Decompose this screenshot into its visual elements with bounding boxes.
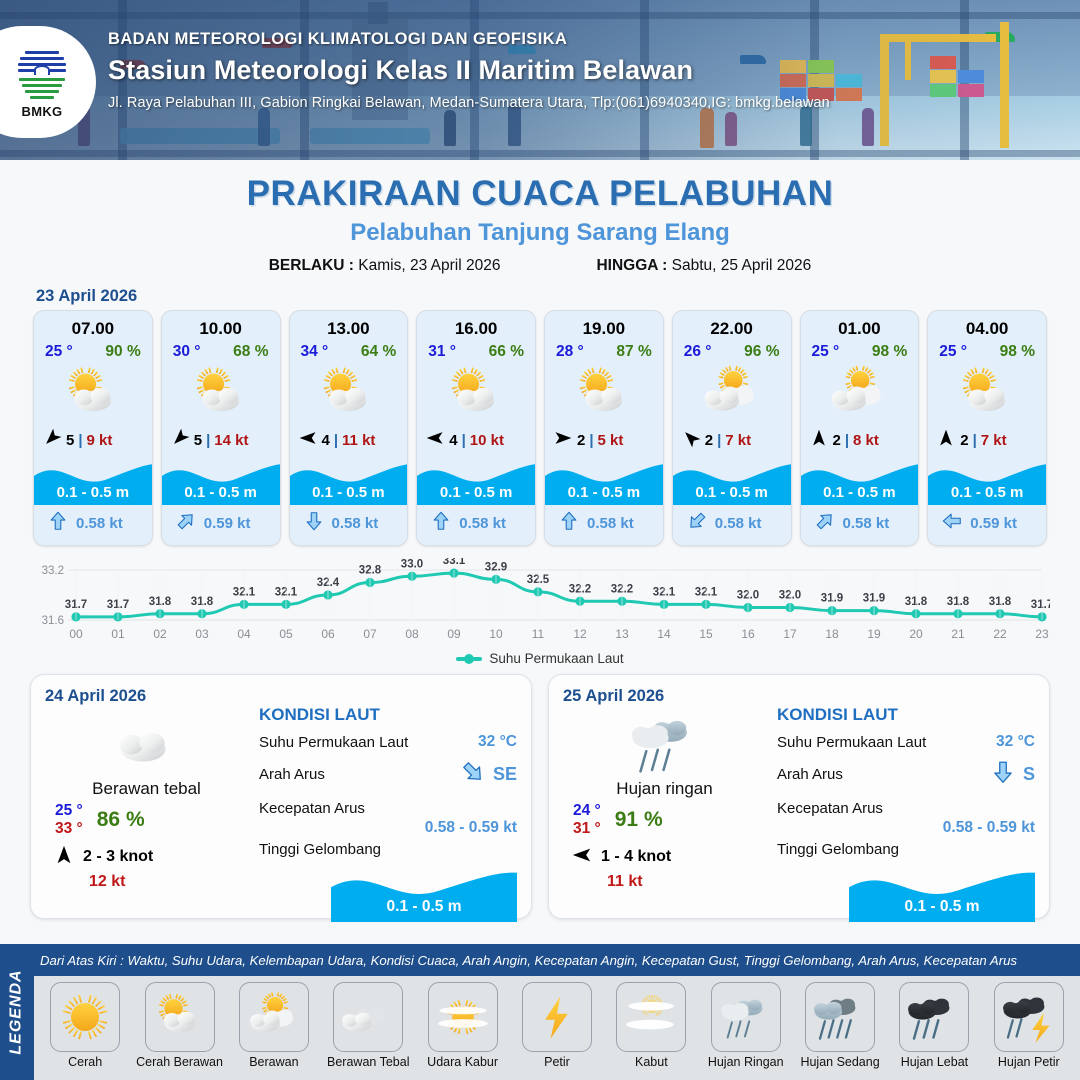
hourly-card: 13.00 34 ° 64 % 4 | 11 kt 0.1 - 0.5 m: [289, 310, 409, 546]
validity-row: BERLAKU : Kamis, 23 April 2026 HINGGA : …: [0, 257, 1080, 275]
agency-name: BADAN METEOROLOGI KLIMATOLOGI DAN GEOFIS…: [108, 30, 830, 49]
legend-item-label: Hujan Lebat: [901, 1055, 968, 1069]
current-speed-label: Kecepatan Arus: [777, 800, 883, 817]
svg-text:13: 13: [615, 627, 629, 641]
current-speed-value: 0.58 - 0.59 kt: [259, 819, 517, 837]
svg-text:22: 22: [993, 627, 1007, 641]
legend-item: Hujan Sedang: [793, 982, 887, 1078]
rain-light-icon: [567, 713, 762, 775]
wind-separator: |: [462, 432, 466, 449]
svg-text:01: 01: [111, 627, 125, 641]
rain-heavy-icon: [899, 982, 969, 1052]
current-direction-value: SE: [493, 764, 517, 785]
current-speed: 0.59 kt: [970, 515, 1017, 532]
current-speed-label: Kecepatan Arus: [259, 800, 365, 817]
current-direction-value: S: [1023, 764, 1035, 785]
hourly-card: 10.00 30 ° 68 % 5 | 14 kt 0.1 - 0.5 m: [161, 310, 281, 546]
current-speed: 0.58 kt: [587, 515, 634, 532]
card-time: 19.00: [545, 311, 663, 339]
card-temperature: 25 °: [939, 343, 967, 361]
wind-separator: |: [717, 432, 721, 449]
panel-wind-speed: 2 - 3 knot: [83, 848, 153, 866]
wind-separator: |: [334, 432, 338, 449]
wind-speed: 5: [194, 432, 202, 449]
panel-wave-graphic: 0.1 - 0.5 m: [849, 862, 1035, 922]
legend-label: Suhu Permukaan Laut: [489, 651, 623, 666]
legend-item-label: Berawan: [249, 1055, 298, 1069]
panel-wave-value: 0.1 - 0.5 m: [849, 898, 1035, 916]
svg-text:15: 15: [699, 627, 713, 641]
current-speed: 0.58 kt: [715, 515, 762, 532]
wind-speed: 2: [833, 432, 841, 449]
sun-clouds-icon: [801, 363, 919, 425]
sst-value: 32 °C: [478, 733, 517, 751]
card-humidity: 96 %: [744, 343, 779, 361]
panel-wave-graphic: 0.1 - 0.5 m: [331, 862, 517, 922]
card-temperature: 28 °: [556, 343, 584, 361]
card-time: 22.00: [673, 311, 791, 339]
svg-text:20: 20: [909, 627, 923, 641]
svg-text:31.7: 31.7: [1031, 599, 1050, 611]
hourly-card: 04.00 25 ° 98 % 2 | 7 kt 0.1 - 0.5 m: [927, 310, 1047, 546]
wave-height: 0.1 - 0.5 m: [545, 484, 663, 501]
wind-separator: |: [206, 432, 210, 449]
card-humidity: 64 %: [361, 343, 396, 361]
svg-text:19: 19: [867, 627, 881, 641]
current-direction-label: Arah Arus: [259, 766, 325, 783]
svg-text:33.2: 33.2: [42, 565, 64, 577]
card-temperature: 30 °: [173, 343, 201, 361]
card-time: 16.00: [417, 311, 535, 339]
legend-item: Berawan: [227, 982, 321, 1078]
current-direction-icon: [430, 510, 452, 537]
current-speed: 0.58 kt: [332, 515, 379, 532]
card-time: 04.00: [928, 311, 1046, 339]
svg-text:33.1: 33.1: [443, 558, 466, 567]
sun-cloud-icon: [417, 363, 535, 425]
sun-icon: [50, 982, 120, 1052]
sun-cloud-icon: [162, 363, 280, 425]
thunderstorm-icon: [994, 982, 1064, 1052]
panel-humidity: 86 %: [97, 808, 145, 832]
legend-item: Udara Kabur: [415, 982, 509, 1078]
current-speed: 0.59 kt: [204, 515, 251, 532]
sun-cloud-icon: [928, 363, 1046, 425]
fog-icon: [616, 982, 686, 1052]
card-humidity: 87 %: [616, 343, 651, 361]
wave-graphic: 0.1 - 0.5 m: [417, 455, 535, 505]
card-humidity: 98 %: [872, 343, 907, 361]
gust-speed: 7 kt: [725, 432, 751, 449]
current-direction-icon: [303, 510, 325, 537]
sun-clouds-icon: [239, 982, 309, 1052]
svg-text:17: 17: [783, 627, 797, 641]
current-direction-icon: [47, 510, 69, 537]
lightning-icon: [522, 982, 592, 1052]
svg-text:08: 08: [405, 627, 419, 641]
legend-marker-icon: [456, 657, 482, 661]
card-temperature: 25 °: [45, 343, 73, 361]
wind-direction-icon: [298, 428, 318, 453]
valid-until-value: Sabtu, 25 April 2026: [672, 257, 812, 274]
wind-separator: |: [845, 432, 849, 449]
current-direction-label: Arah Arus: [777, 766, 843, 783]
bmkg-logo-text: BMKG: [22, 104, 63, 119]
gust-speed: 5 kt: [598, 432, 624, 449]
legend-note: Dari Atas Kiri : Waktu, Suhu Udara, Kele…: [40, 953, 1074, 968]
card-temperature: 34 °: [301, 343, 329, 361]
wave-graphic: 0.1 - 0.5 m: [545, 455, 663, 505]
svg-text:31.6: 31.6: [42, 615, 64, 627]
legend-tab-label: LEGENDA: [8, 969, 26, 1054]
valid-until: HINGGA : Sabtu, 25 April 2026: [596, 257, 811, 275]
card-time: 07.00: [34, 311, 152, 339]
wind-separator: |: [589, 432, 593, 449]
legend-item: Hujan Ringan: [699, 982, 793, 1078]
page-subtitle: Pelabuhan Tanjung Sarang Elang: [0, 219, 1080, 247]
card-temperature: 26 °: [684, 343, 712, 361]
gust-speed: 8 kt: [853, 432, 879, 449]
legend-item: Hujan Lebat: [887, 982, 981, 1078]
wave-height: 0.1 - 0.5 m: [673, 484, 791, 501]
daily-forecast-row: 24 April 2026 Berawan tebal 25 ° 33 ° 86…: [0, 666, 1080, 919]
arrow-s-icon: [990, 759, 1016, 790]
sun-cloud-icon: [290, 363, 408, 425]
wind-direction-icon: [936, 428, 956, 453]
svg-text:33.0: 33.0: [401, 558, 423, 570]
legend-tab: LEGENDA: [0, 944, 34, 1080]
svg-text:12: 12: [573, 627, 587, 641]
wind-direction-icon: [681, 428, 701, 453]
card-humidity: 98 %: [1000, 343, 1035, 361]
panel-temp-min: 25 °: [55, 802, 83, 820]
legend-item: Kabut: [604, 982, 698, 1078]
svg-text:05: 05: [279, 627, 293, 641]
card-temperature: 25 °: [812, 343, 840, 361]
cloud-icon: [49, 713, 244, 775]
station-address: Jl. Raya Pelabuhan III, Gabion Ringkai B…: [108, 95, 830, 111]
sun-cloud-icon: [545, 363, 663, 425]
wind-direction-icon: [425, 428, 445, 453]
svg-text:18: 18: [825, 627, 839, 641]
wind-separator: |: [973, 432, 977, 449]
svg-text:06: 06: [321, 627, 335, 641]
wind-direction-icon: [553, 428, 573, 453]
panel-wind-speed: 1 - 4 knot: [601, 848, 671, 866]
card-humidity: 90 %: [105, 343, 140, 361]
sun-cloud-icon: [145, 982, 215, 1052]
panel-humidity: 91 %: [615, 808, 663, 832]
wind-speed: 4: [449, 432, 457, 449]
panel-temp-min: 24 °: [573, 802, 601, 820]
rain-light-icon: [711, 982, 781, 1052]
panel-gust: 12 kt: [49, 873, 244, 891]
hourly-card: 07.00 25 ° 90 % 5 | 9 kt 0.1 - 0.5 m: [33, 310, 153, 546]
rain-moderate-icon: [805, 982, 875, 1052]
wind-separator: |: [78, 432, 82, 449]
legend-item-label: Hujan Ringan: [708, 1055, 784, 1069]
valid-from-label: BERLAKU :: [269, 257, 354, 274]
legend-item-label: Hujan Petir: [998, 1055, 1060, 1069]
hourly-card: 01.00 25 ° 98 % 2 | 8 kt 0.1 - 0.5 m: [800, 310, 920, 546]
page-header: BMKG BADAN METEOROLOGI KLIMATOLOGI DAN G…: [0, 0, 1080, 160]
gust-speed: 10 kt: [470, 432, 504, 449]
panel-condition: Berawan tebal: [49, 779, 244, 799]
panel-wind-direction-icon: [53, 844, 75, 871]
current-direction-icon: [814, 510, 836, 537]
daily-forecast-panel: 25 April 2026 Hujan ringan 24 ° 31 °: [548, 674, 1050, 919]
wave-graphic: 0.1 - 0.5 m: [801, 455, 919, 505]
current-speed: 0.58 kt: [76, 515, 123, 532]
sea-condition-title: KONDISI LAUT: [777, 705, 1035, 725]
wave-graphic: 0.1 - 0.5 m: [162, 455, 280, 505]
wind-direction-icon: [42, 428, 62, 453]
wave-graphic: 0.1 - 0.5 m: [290, 455, 408, 505]
svg-text:00: 00: [69, 627, 83, 641]
card-time: 13.00: [290, 311, 408, 339]
hourly-forecast-row: 07.00 25 ° 90 % 5 | 9 kt 0.1 - 0.5 m: [0, 310, 1080, 546]
panel-wave-value: 0.1 - 0.5 m: [331, 898, 517, 916]
clouds-icon: [333, 982, 403, 1052]
wind-direction-icon: [809, 428, 829, 453]
card-time: 01.00: [801, 311, 919, 339]
page-title: PRAKIRAAN CUACA PELABUHAN: [0, 174, 1080, 214]
sea-condition-title: KONDISI LAUT: [259, 705, 517, 725]
svg-text:03: 03: [195, 627, 209, 641]
card-temperature: 31 °: [428, 343, 456, 361]
gust-speed: 7 kt: [981, 432, 1007, 449]
current-speed-value: 0.58 - 0.59 kt: [777, 819, 1035, 837]
bmkg-logo-mark: [13, 45, 71, 103]
gust-speed: 14 kt: [214, 432, 248, 449]
wave-height: 0.1 - 0.5 m: [290, 484, 408, 501]
legend-item: Cerah Berawan: [132, 982, 226, 1078]
current-direction-icon: [941, 510, 963, 537]
wave-graphic: 0.1 - 0.5 m: [673, 455, 791, 505]
panel-temp-max: 31 °: [573, 820, 601, 838]
svg-text:11: 11: [532, 627, 545, 641]
valid-until-label: HINGGA :: [596, 257, 667, 274]
current-speed: 0.58 kt: [459, 515, 506, 532]
legend-item-label: Cerah Berawan: [136, 1055, 223, 1069]
title-block: PRAKIRAAN CUACA PELABUHAN Pelabuhan Tanj…: [0, 160, 1080, 275]
wind-speed: 2: [705, 432, 713, 449]
hourly-card: 22.00 26 ° 96 % 2 | 7 kt 0.1 - 0.5 m: [672, 310, 792, 546]
svg-text:09: 09: [447, 627, 461, 641]
hourly-card: 19.00 28 ° 87 % 2 | 5 kt 0.1 - 0.5 m: [544, 310, 664, 546]
legend-item-label: Kabut: [635, 1055, 668, 1069]
wave-graphic: 0.1 - 0.5 m: [34, 455, 152, 505]
sst-label: Suhu Permukaan Laut: [259, 734, 408, 751]
card-humidity: 68 %: [233, 343, 268, 361]
haze-sun-icon: [428, 982, 498, 1052]
svg-text:10: 10: [489, 627, 503, 641]
wave-height: 0.1 - 0.5 m: [162, 484, 280, 501]
svg-text:07: 07: [363, 627, 377, 641]
panel-wind-direction-icon: [571, 844, 593, 871]
svg-text:04: 04: [237, 627, 251, 641]
wave-graphic: 0.1 - 0.5 m: [928, 455, 1046, 505]
svg-text:23: 23: [1035, 627, 1049, 641]
legend-item: Hujan Petir: [982, 982, 1076, 1078]
svg-text:16: 16: [741, 627, 755, 641]
current-direction-icon: [686, 510, 708, 537]
wave-height: 0.1 - 0.5 m: [417, 484, 535, 501]
panel-condition: Hujan ringan: [567, 779, 762, 799]
legend-bar: LEGENDA Dari Atas Kiri : Waktu, Suhu Uda…: [0, 944, 1080, 1080]
sun-cloud-icon: [34, 363, 152, 425]
valid-from: BERLAKU : Kamis, 23 April 2026: [269, 257, 501, 275]
svg-text:02: 02: [153, 627, 167, 641]
gust-speed: 9 kt: [87, 432, 113, 449]
wave-height: 0.1 - 0.5 m: [34, 484, 152, 501]
wind-speed: 4: [322, 432, 330, 449]
daily-forecast-panel: 24 April 2026 Berawan tebal 25 ° 33 ° 86…: [30, 674, 532, 919]
legend-item-label: Petir: [544, 1055, 570, 1069]
panel-temp-max: 33 °: [55, 820, 83, 838]
sun-clouds-icon: [673, 363, 791, 425]
panel-date: 24 April 2026: [45, 687, 517, 706]
legend-item-label: Hujan Sedang: [800, 1055, 879, 1069]
gust-speed: 11 kt: [342, 432, 375, 449]
valid-from-value: Kamis, 23 April 2026: [358, 257, 500, 274]
panel-date: 25 April 2026: [563, 687, 1035, 706]
hourly-date-label: 23 April 2026: [36, 287, 1080, 306]
hourly-card: 16.00 31 ° 66 % 4 | 10 kt 0.1 - 0.5 m: [416, 310, 536, 546]
current-direction-icon: [558, 510, 580, 537]
wave-height: 0.1 - 0.5 m: [928, 484, 1046, 501]
sst-chart: 33.231.631.70031.70131.80231.80332.10432…: [0, 558, 1080, 666]
wave-height: 0.1 - 0.5 m: [801, 484, 919, 501]
station-name: Stasiun Meteorologi Kelas II Maritim Bel…: [108, 55, 830, 86]
sst-label: Suhu Permukaan Laut: [777, 734, 926, 751]
wind-direction-icon: [170, 428, 190, 453]
panel-gust: 11 kt: [567, 873, 762, 891]
legend-item-label: Udara Kabur: [427, 1055, 498, 1069]
card-time: 10.00: [162, 311, 280, 339]
wind-speed: 5: [66, 432, 74, 449]
wave-height-label: Tinggi Gelombang: [259, 841, 381, 858]
wave-height-label: Tinggi Gelombang: [777, 841, 899, 858]
svg-text:21: 21: [951, 627, 965, 641]
current-speed: 0.58 kt: [843, 515, 890, 532]
legend-item: Cerah: [38, 982, 132, 1078]
svg-text:14: 14: [657, 627, 671, 641]
legend-item-label: Berawan Tebal: [327, 1055, 409, 1069]
legend-item: Berawan Tebal: [321, 982, 415, 1078]
wind-speed: 2: [960, 432, 968, 449]
card-humidity: 66 %: [489, 343, 524, 361]
current-direction-icon: [175, 510, 197, 537]
legend-icon-strip: Cerah Cerah Berawan Berawan Berawan Teba…: [34, 976, 1080, 1080]
sst-value: 32 °C: [996, 733, 1035, 751]
arrow-se-icon: [460, 759, 486, 790]
legend-item-label: Cerah: [68, 1055, 102, 1069]
chart-legend: Suhu Permukaan Laut: [30, 651, 1050, 666]
wind-speed: 2: [577, 432, 585, 449]
legend-item: Petir: [510, 982, 604, 1078]
